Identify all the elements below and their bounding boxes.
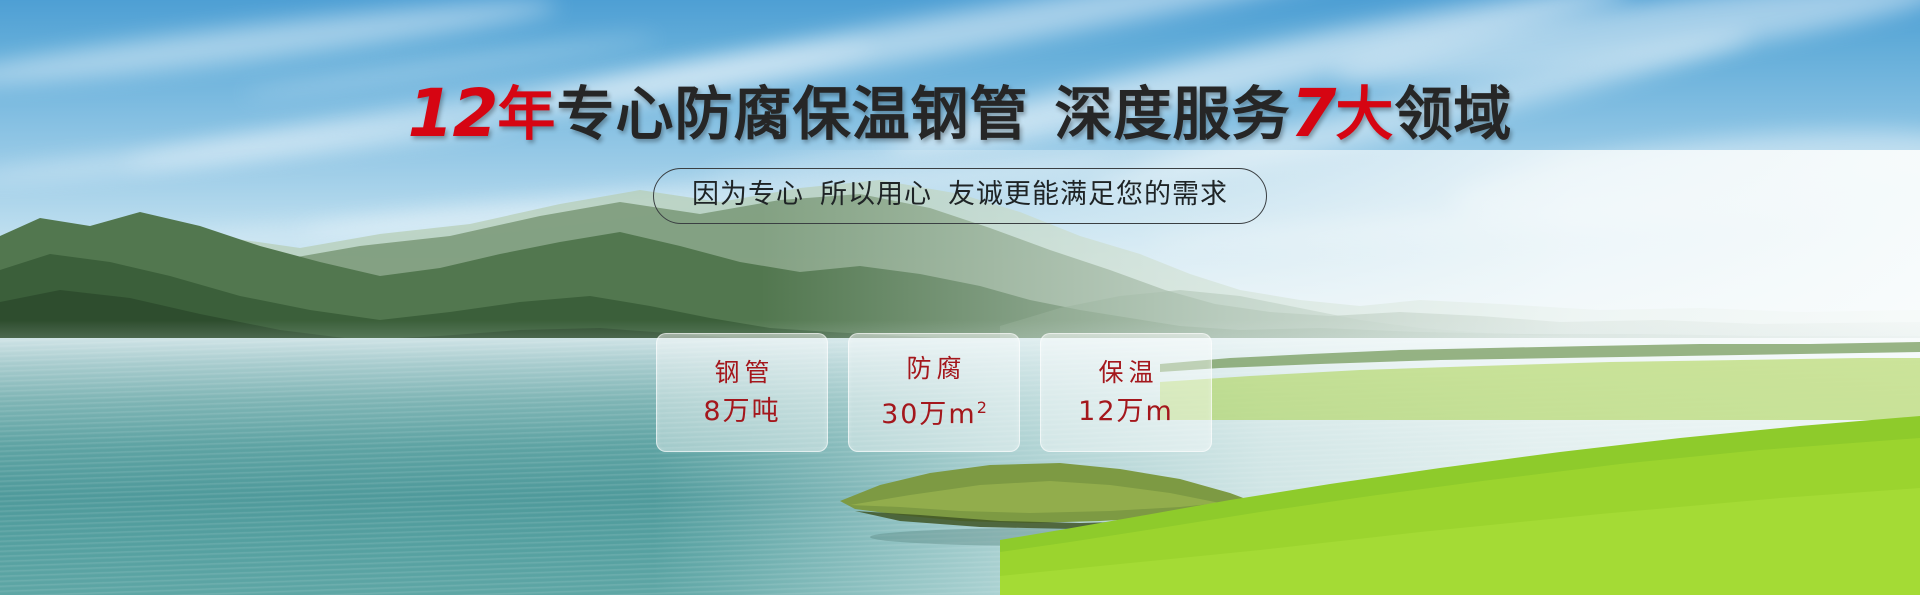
headline-service-text: 深度服务 [1054, 80, 1290, 148]
headline-years-unit: 年 [497, 80, 556, 148]
subtitle-segment-2: 所以用心 [820, 179, 932, 210]
stat-card-title: 防腐 [901, 354, 966, 384]
stat-card-value: 30万m2 [881, 392, 987, 431]
banner-stage: 12年专心防腐保温钢管深度服务7大领域 因为专心所以用心友诚更能满足您的需求 钢… [0, 0, 1920, 595]
stat-card-value-text: 8万吨 [703, 396, 780, 427]
page-title: 12年专心防腐保温钢管深度服务7大领域 [0, 82, 1920, 146]
stat-card-insulation[interactable]: 保温 12万m [1040, 333, 1212, 452]
subtitle-wrapper: 因为专心所以用心友诚更能满足您的需求 [0, 168, 1920, 224]
stat-card-value: 12万m [1078, 396, 1174, 428]
stat-card-value-superscript: 2 [977, 398, 987, 417]
stat-cards-group: 钢管 8万吨 防腐 30万m2 保温 12万m [656, 333, 1212, 452]
subtitle-segment-1: 因为专心 [692, 179, 804, 210]
headline-fields-number: 7 [1290, 75, 1335, 152]
stat-card-value-text: 30万m [881, 399, 977, 430]
stat-card-steel-pipe[interactable]: 钢管 8万吨 [656, 333, 828, 452]
headline-fields-text: 领域 [1394, 80, 1512, 148]
stat-card-title: 保温 [1093, 358, 1158, 388]
headline-fields-unit: 大 [1335, 80, 1394, 148]
subtitle-pill: 因为专心所以用心友诚更能满足您的需求 [653, 168, 1267, 224]
stat-card-value: 8万吨 [703, 396, 780, 428]
stat-card-anticorrosion[interactable]: 防腐 30万m2 [848, 333, 1020, 452]
stat-card-value-text: 12万m [1078, 396, 1174, 427]
stat-card-title: 钢管 [709, 358, 774, 388]
subtitle-segment-3: 友诚更能满足您的需求 [948, 179, 1228, 210]
headline-main-text: 专心防腐保温钢管 [556, 80, 1028, 148]
headline-years-number: 12 [408, 75, 498, 152]
